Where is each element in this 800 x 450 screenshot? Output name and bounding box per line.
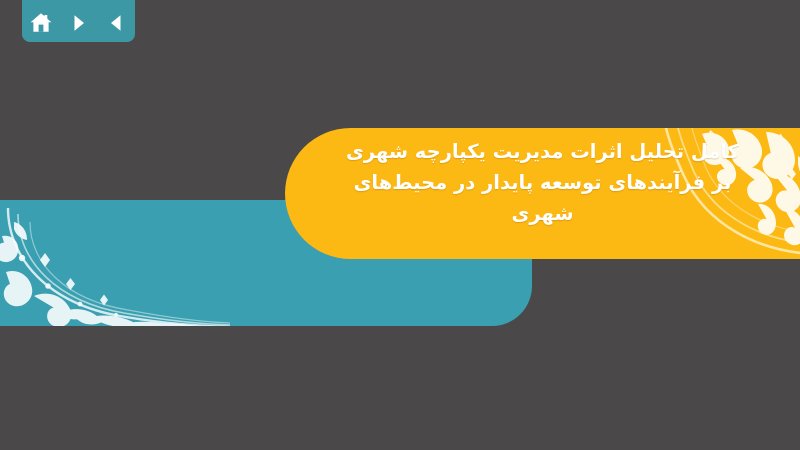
back-arrow-icon xyxy=(105,12,127,34)
title-panel-ornament-icon xyxy=(640,128,800,259)
accent-panel-ornament-icon xyxy=(0,200,230,326)
navigation-bar xyxy=(22,0,135,42)
slide-canvas: کامل تحلیل اثرات مدیریت یکپارچه شهری بر … xyxy=(0,0,800,450)
forward-button[interactable] xyxy=(66,10,92,36)
title-panel xyxy=(285,128,800,259)
home-button[interactable] xyxy=(28,10,54,36)
back-button[interactable] xyxy=(103,10,129,36)
home-icon xyxy=(29,11,53,35)
forward-arrow-icon xyxy=(68,12,90,34)
